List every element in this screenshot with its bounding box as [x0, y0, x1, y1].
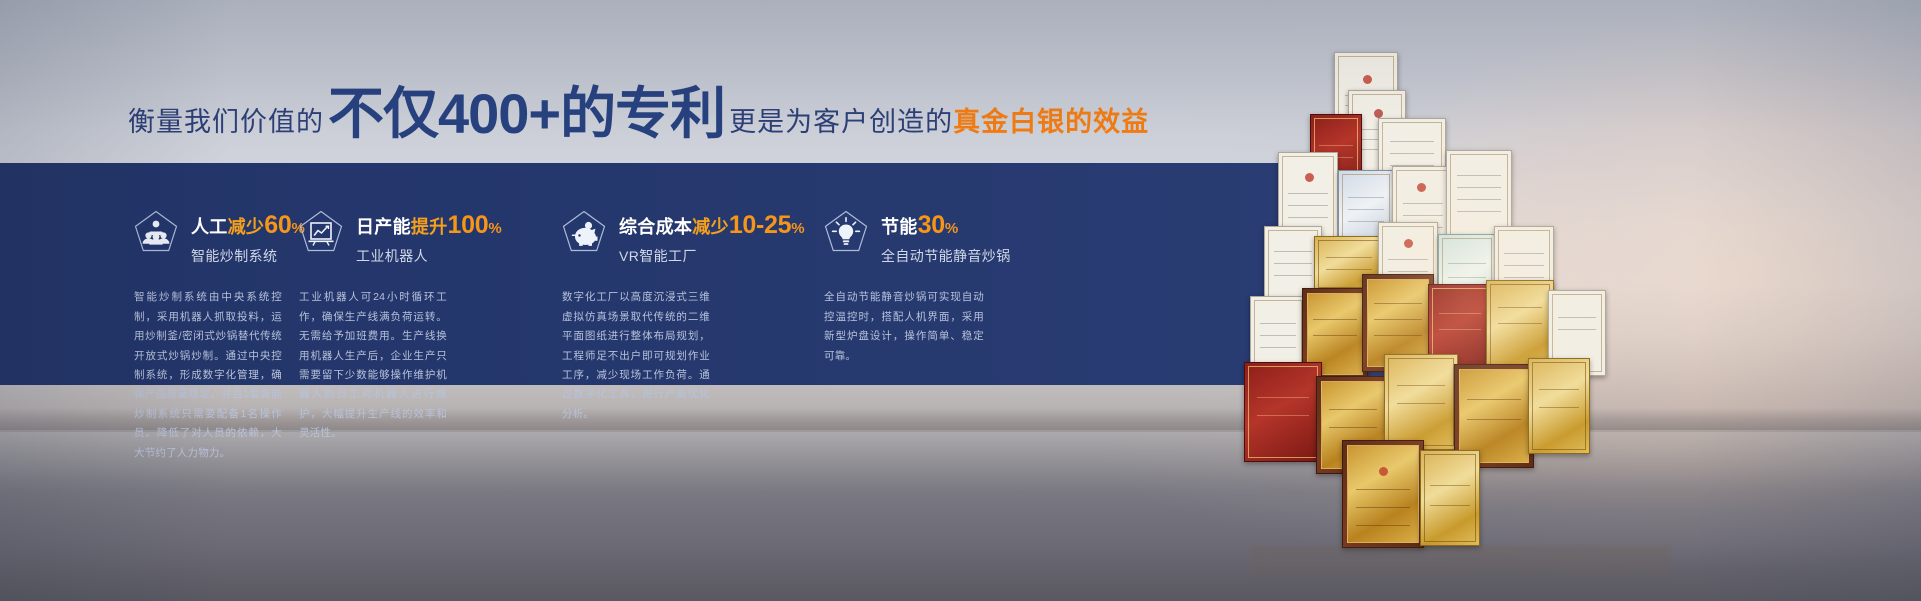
feature-header: 综合成本减少10-25% VR智能工厂 — [562, 210, 806, 266]
feature-header: 节能30% 全自动节能静音炒锅 — [824, 210, 1086, 266]
award-plaque-item — [1420, 450, 1480, 546]
people-group-icon — [134, 210, 178, 258]
feature-header: 日产能提升100% 工业机器人 — [299, 210, 544, 266]
award-plaque-item — [1342, 440, 1424, 548]
feature-item-energy-saving[interactable]: 节能30% 全自动节能静音炒锅 全自动节能静音炒锅可实现自动控温控时，搭配人机界… — [806, 163, 1086, 385]
feature-title-unit: % — [488, 220, 502, 237]
feature-title: 日产能提升100% — [356, 212, 502, 238]
feature-item-labor-reduction[interactable]: 人工减少60% 智能炒制系统 智能炒制系统由中央系统控制，采用机器人抓取投料，运… — [0, 163, 282, 385]
feature-title-number: 30 — [918, 211, 945, 239]
feature-body: 智能炒制系统由中央系统控制，采用机器人抓取投料，运用炒制釜/密闭式炒锅替代传统开… — [134, 288, 282, 463]
feature-title-highlight: 减少 — [692, 217, 729, 237]
headline-middle: 更是为客户创造的 — [729, 100, 953, 139]
feature-text: 节能30% 全自动节能静音炒锅 — [881, 210, 1011, 266]
certificate-stack-reflection — [1250, 546, 1670, 601]
feature-subtitle: 工业机器人 — [356, 246, 502, 266]
features-list: 人工减少60% 智能炒制系统 智能炒制系统由中央系统控制，采用机器人抓取投料，运… — [0, 163, 1423, 385]
feature-title-prefix: 人工 — [191, 217, 228, 237]
feature-title-prefix: 综合成本 — [619, 217, 692, 237]
headline: 衡量我们价值的 不仅400+的专利 更是为客户创造的 真金白银的效益 — [128, 86, 1149, 138]
chart-board-icon — [299, 210, 343, 258]
feature-title-prefix: 日产能 — [356, 217, 411, 237]
feature-title: 节能30% — [881, 212, 1011, 238]
feature-title: 综合成本减少10-25% — [619, 212, 805, 238]
feature-body: 全自动节能静音炒锅可实现自动控温控时，搭配人机界面，采用新型炉盘设计，操作简单、… — [824, 288, 984, 366]
feature-body: 数字化工厂以高度沉浸式三维虚拟仿真场景取代传统的二维平面图纸进行整体布局规划，工… — [562, 288, 710, 424]
feature-title-unit: % — [945, 220, 959, 237]
feature-title-highlight: 提升 — [411, 217, 448, 237]
feature-header: 人工减少60% 智能炒制系统 — [134, 210, 282, 266]
energy-saving-icon — [824, 210, 868, 258]
feature-text: 综合成本减少10-25% VR智能工厂 — [619, 210, 805, 266]
feature-title-prefix: 节能 — [881, 217, 918, 237]
feature-subtitle: VR智能工厂 — [619, 246, 805, 266]
headline-accent: 真金白银的效益 — [953, 100, 1149, 139]
headline-highlight: 不仅400+的专利 — [328, 86, 725, 142]
feature-text: 日产能提升100% 工业机器人 — [356, 210, 502, 266]
feature-title-unit: % — [791, 220, 805, 237]
award-plaque-item — [1244, 362, 1322, 462]
feature-title-highlight: 减少 — [228, 217, 265, 237]
banner-stage: 衡量我们价值的 不仅400+的专利 更是为客户创造的 真金白银的效益 — [0, 0, 1921, 601]
piggy-bank-icon — [562, 210, 606, 258]
feature-item-daily-capacity[interactable]: 日产能提升100% 工业机器人 工业机器人可24小时循环工作，确保生产线满负荷运… — [282, 163, 544, 385]
feature-title-number: 10-25 — [729, 211, 791, 239]
certificate-and-award-stack — [1250, 40, 1670, 545]
feature-subtitle: 全自动节能静音炒锅 — [881, 246, 1011, 266]
feature-body: 工业机器人可24小时循环工作，确保生产线满负荷运转。无需给予加班费用。生产线换用… — [299, 288, 447, 443]
award-plaque-item — [1528, 358, 1590, 454]
feature-title-number: 100 — [448, 211, 489, 239]
feature-item-total-cost[interactable]: 综合成本减少10-25% VR智能工厂 数字化工厂以高度沉浸式三维虚拟仿真场景取… — [544, 163, 806, 385]
award-plaque-item — [1384, 354, 1458, 450]
headline-prefix: 衡量我们价值的 — [128, 100, 324, 139]
